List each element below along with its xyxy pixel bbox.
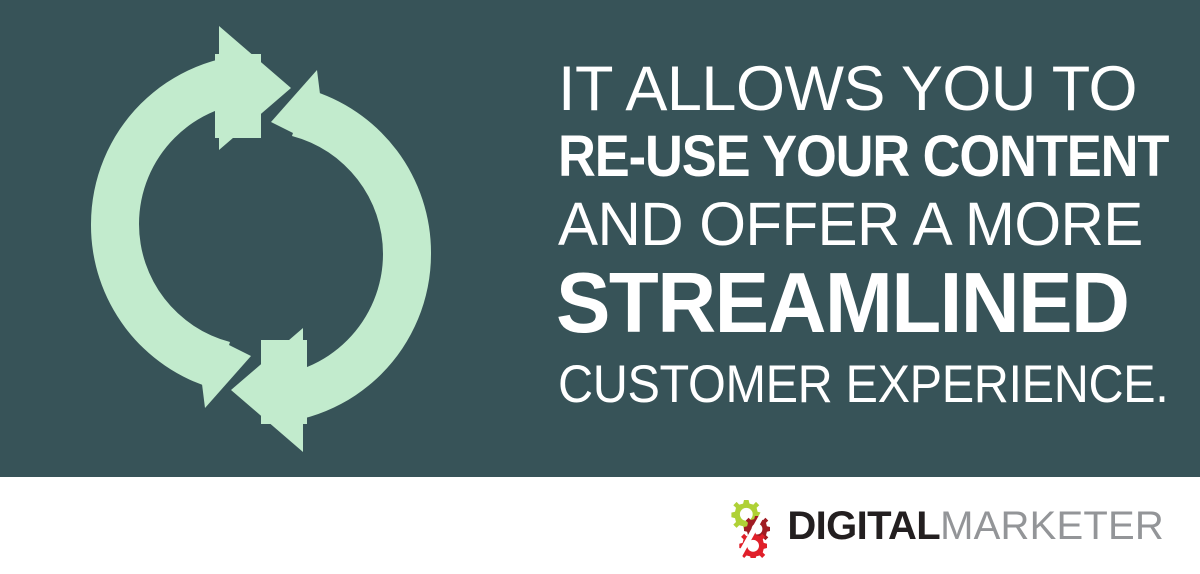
gears-icon — [719, 494, 789, 558]
cycle-refresh-icon — [55, 18, 467, 460]
headline-line-1: IT ALLOWS YOU TO — [558, 58, 1166, 121]
logo-wordmark: DIGITALMARKETER — [787, 506, 1164, 546]
logo-word-digital: DIGITAL — [787, 504, 940, 548]
hero-panel: IT ALLOWS YOU TO RE-USE YOUR CONTENT AND… — [0, 0, 1200, 477]
headline-line-4: STREAMLINED — [556, 261, 1142, 346]
headline-line-3: AND OFFER A MORE — [558, 194, 1157, 255]
quote-graphic-canvas: IT ALLOWS YOU TO RE-USE YOUR CONTENT AND… — [0, 0, 1200, 574]
headline-line-5: CUSTOMER EXPERIENCE. — [558, 358, 1116, 411]
logo-word-marketer: MARKETER — [940, 504, 1164, 548]
digitalmarketer-logo: DIGITALMARKETER — [719, 494, 1164, 558]
headline-block: IT ALLOWS YOU TO RE-USE YOUR CONTENT AND… — [556, 58, 1166, 411]
headline-line-2: RE-USE YOUR CONTENT — [558, 128, 1107, 186]
